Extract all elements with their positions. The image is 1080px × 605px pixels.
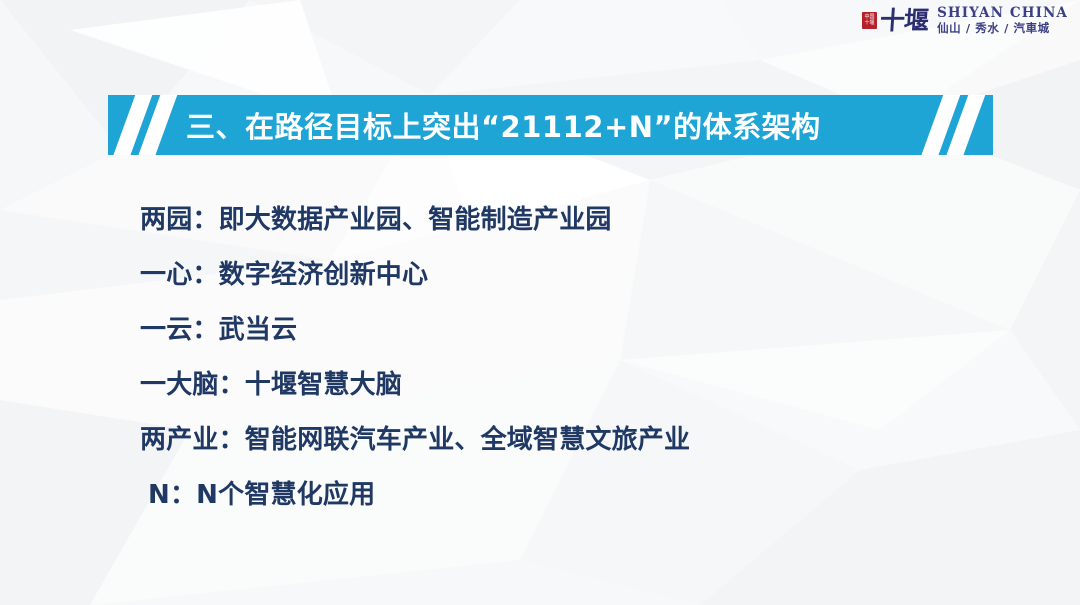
slide-title: 三、在路径目标上突出“21112+N”的体系架构 [186, 95, 821, 155]
brand-mark: 中国 十堰 十堰 [862, 8, 928, 33]
brand-seal-line2: 十堰 [865, 21, 875, 26]
body-line: N：N个智慧化应用 [0, 465, 1080, 520]
presentation-slide: 中国 十堰 十堰 SHIYAN CHINA 仙山 / 秀水 / 汽車城 三、在路… [0, 0, 1080, 605]
slide-body-list: 两园：即大数据产业园、智能制造产业园 一心：数字经济创新中心 一云：武当云 一大… [0, 190, 1080, 520]
brand-name-en: SHIYAN CHINA [937, 6, 1068, 22]
brand-logo: 中国 十堰 十堰 SHIYAN CHINA 仙山 / 秀水 / 汽車城 [862, 6, 1068, 35]
body-line: 一大脑：十堰智慧大脑 [0, 355, 1080, 410]
body-line: 两园：即大数据产业园、智能制造产业园 [0, 190, 1080, 245]
brand-seal-icon: 中国 十堰 [862, 12, 877, 29]
brand-calligraphy: 十堰 [879, 8, 929, 33]
body-line: 一心：数字经济创新中心 [0, 245, 1080, 300]
slide-title-banner: 三、在路径目标上突出“21112+N”的体系架构 [108, 95, 993, 155]
body-line: 两产业：智能网联汽车产业、全域智慧文旅产业 [0, 410, 1080, 465]
body-line: 一云：武当云 [0, 300, 1080, 355]
brand-wordmark: SHIYAN CHINA 仙山 / 秀水 / 汽車城 [937, 6, 1068, 35]
brand-tagline: 仙山 / 秀水 / 汽車城 [937, 22, 1068, 36]
